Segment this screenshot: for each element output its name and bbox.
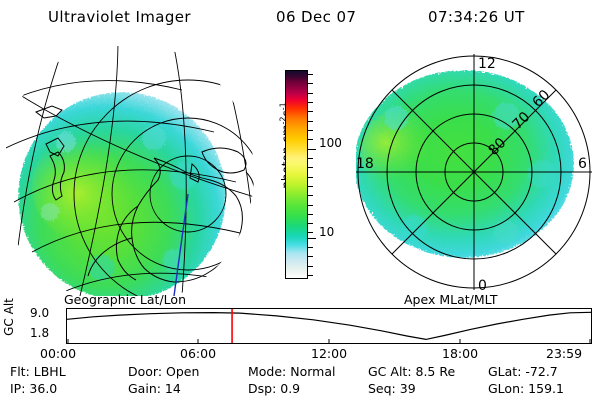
status-row: Flt: LBHLDoor: OpenMode: NormalGC Alt: 8… (0, 364, 600, 381)
altitude-curve (67, 312, 591, 339)
colorbar-minor-tick (307, 232, 313, 233)
orbit-ytick-bottom: 1.8 (30, 326, 49, 340)
orbit-altitude-svg (67, 309, 591, 343)
time-axis-label: 06:00 (180, 346, 216, 361)
colorbar-minor-tick (307, 177, 313, 178)
geographic-image-panel (6, 46, 258, 296)
time-axis-label: 00:00 (40, 346, 76, 361)
status-field: GLat: -72.7 (488, 364, 558, 379)
status-field: Mode: Normal (248, 364, 335, 379)
aurora-emission-geographic (18, 92, 226, 296)
colorbar-tick-label: 10 (319, 232, 334, 233)
colorbar-minor-tick (307, 111, 313, 112)
colorbar-minor-tick (307, 158, 313, 159)
apex-polar-dial-svg: 12 18 6 0 60 70 80 (356, 46, 596, 296)
observation-date: 06 Dec 07 (276, 8, 356, 26)
apex-panel-caption: Apex MLat/MLT (404, 292, 498, 307)
status-field: Seq: 39 (368, 381, 416, 396)
time-axis-label: 23:59 (546, 346, 582, 361)
colorbar-minor-tick (307, 205, 313, 206)
colorbar-minor-tick (307, 247, 313, 248)
apex-dial-panel: 12 18 6 0 60 70 80 (356, 46, 596, 296)
colorbar-minor-tick (307, 186, 313, 187)
colorbar-group: photon cm-2s-1 10010 (262, 60, 354, 295)
mlt-label-18: 18 (356, 156, 374, 172)
colorbar-major-tick (307, 149, 316, 150)
colorbar-minor-tick (307, 121, 313, 122)
colorbar-minor-tick (307, 102, 313, 103)
colorbar-minor-tick (307, 139, 313, 140)
header-bar: Ultraviolet Imager 06 Dec 07 07:34:26 UT (0, 0, 600, 40)
status-field: Gain: 14 (128, 381, 181, 396)
status-row: IP: 36.0Gain: 14Dsp: 0.9Seq: 39GLon: 159… (0, 381, 600, 398)
colorbar-major-tick (307, 238, 316, 239)
colorbar-minor-tick (307, 93, 313, 94)
orbit-axis-title: GC Alt (2, 294, 16, 340)
colorbar-minor-tick (307, 130, 313, 131)
status-field: GLon: 159.1 (488, 381, 564, 396)
colorbar-minor-tick (307, 74, 313, 75)
status-field: GC Alt: 8.5 Re (368, 364, 455, 379)
colorbar-tick-label: 100 (319, 143, 342, 144)
geographic-projection-svg (6, 46, 258, 296)
colorbar-minor-tick (307, 256, 313, 257)
colorbar-minor-tick (307, 83, 313, 84)
mlt-label-12: 12 (478, 56, 496, 72)
colorbar-gradient (285, 70, 308, 279)
colorbar-minor-tick (307, 266, 313, 267)
status-field: Flt: LBHL (10, 364, 66, 379)
colorbar-minor-tick (307, 223, 313, 224)
mlt-label-6: 6 (578, 156, 587, 172)
status-field: IP: 36.0 (10, 381, 57, 396)
geographic-panel-caption: Geographic Lat/Lon (64, 292, 186, 307)
observation-time: 07:34:26 UT (428, 8, 525, 26)
orbit-bottom-ticks (68, 339, 590, 343)
time-axis-label: 12:00 (311, 346, 347, 361)
status-field: Door: Open (128, 364, 199, 379)
orbit-ytick-top: 9.0 (30, 306, 49, 320)
colorbar-minor-tick (307, 275, 313, 276)
apex-dial-grid (356, 54, 592, 290)
colorbar-minor-tick (307, 167, 313, 168)
colorbar-minor-tick (307, 214, 313, 215)
orbit-altitude-plot[interactable] (66, 308, 592, 344)
status-field: Dsp: 0.9 (248, 381, 300, 396)
page-title: Ultraviolet Imager (48, 8, 191, 26)
time-axis-label: 18:00 (442, 346, 478, 361)
colorbar-minor-tick (307, 195, 313, 196)
